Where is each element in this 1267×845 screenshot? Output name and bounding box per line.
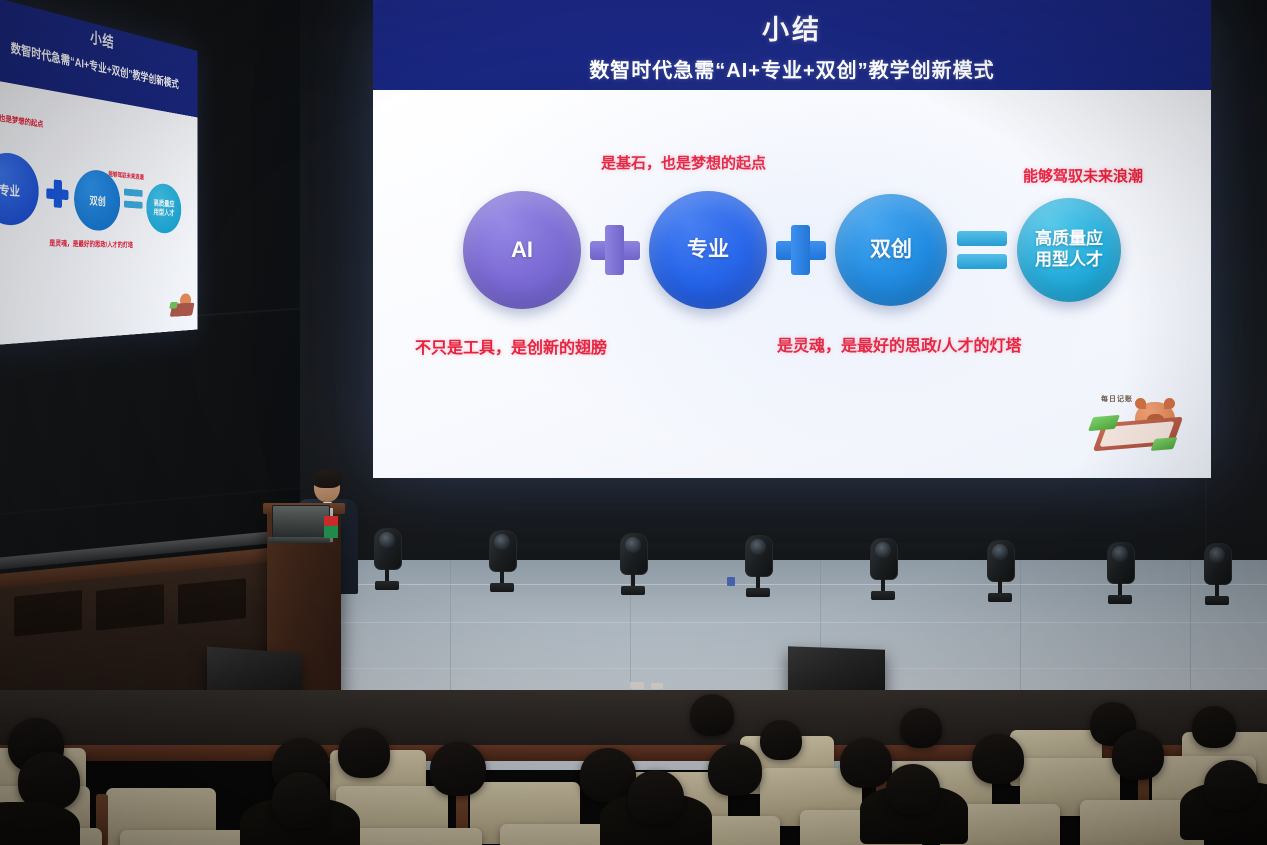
floor-prop bbox=[630, 682, 644, 689]
stage-light bbox=[372, 528, 402, 592]
secondary-projection-screen: 小结 数智时代急需“AI+专业+双创”教学创新模式 是基石，也是梦想的起点 能够… bbox=[0, 0, 198, 346]
floor-prop bbox=[651, 683, 663, 689]
piggy-ear-icon bbox=[1135, 398, 1146, 409]
audience-head bbox=[272, 772, 330, 828]
stage-light bbox=[1105, 542, 1135, 606]
piggy-bank-calculator-illustration: 每日记账 bbox=[1091, 394, 1187, 466]
operator-equals bbox=[956, 227, 1008, 273]
left-operator-plus bbox=[46, 179, 68, 208]
stage-light bbox=[1202, 543, 1232, 607]
laptop-base bbox=[268, 537, 332, 543]
stage-light bbox=[868, 538, 898, 602]
audience-head bbox=[628, 770, 684, 824]
node-major: 专业 bbox=[649, 191, 767, 309]
node-talent: 高质量应用型人才 bbox=[1017, 198, 1121, 302]
laptop-screen bbox=[272, 505, 330, 541]
node-ai-label: AI bbox=[463, 191, 581, 309]
audience-head bbox=[690, 694, 734, 736]
slide-body: 是基石，也是梦想的起点 能够驾驭未来浪潮 AI 专业 bbox=[373, 90, 1211, 478]
slide-header: 小结 数智时代急需“AI+专业+双创”教学创新模式 bbox=[373, 0, 1211, 90]
left-node-major: 专业 bbox=[0, 150, 39, 227]
left-slide-body: 是基石，也是梦想的起点 能够驾驭未来浪潮 专业 双创 高质量应用型人才 是灵魂，… bbox=[0, 78, 198, 346]
audience-head bbox=[840, 738, 892, 788]
main-projection-screen: 小结 数智时代急需“AI+专业+双创”教学创新模式 是基石，也是梦想的起点 能够… bbox=[373, 0, 1211, 478]
caption-innovation-below: 是灵魂，是最好的思政/人才的灯塔 bbox=[777, 332, 1021, 356]
audience-head bbox=[972, 734, 1024, 784]
audience-head bbox=[760, 720, 802, 760]
caption-ai-below: 不只是工具，是创新的翅膀 bbox=[415, 334, 607, 358]
stage-light bbox=[985, 540, 1015, 604]
audience-head bbox=[886, 764, 940, 814]
audience-head bbox=[338, 728, 390, 778]
money-icon bbox=[1150, 437, 1177, 451]
left-node-talent: 高质量应用型人才 bbox=[146, 182, 181, 234]
node-major-label: 专业 bbox=[649, 191, 767, 309]
piggy-caption: 每日记账 bbox=[1101, 394, 1133, 404]
name-flag bbox=[324, 516, 338, 538]
piggy-ear-icon bbox=[1164, 398, 1175, 409]
floor-prop bbox=[727, 577, 735, 586]
audience-head bbox=[1192, 706, 1236, 748]
left-caption-above-left: 是基石，也是梦想的起点 bbox=[0, 108, 43, 129]
node-talent-label: 高质量应用型人才 bbox=[1017, 198, 1121, 302]
audience-head bbox=[900, 708, 942, 748]
node-innovation: 双创 bbox=[835, 194, 947, 306]
presenter-hair bbox=[312, 469, 342, 488]
operator-plus-1 bbox=[588, 223, 642, 277]
left-caption-below: 是灵魂，是最好的思政/人才的灯塔 bbox=[49, 238, 133, 250]
left-operator-equals bbox=[124, 188, 143, 212]
slide-title: 小结 bbox=[373, 8, 1211, 47]
stage-light bbox=[618, 533, 648, 597]
operator-plus-2 bbox=[774, 223, 828, 277]
auditorium-photo: 小结 数智时代急需“AI+专业+双创”教学创新模式 是基石，也是梦想的起点 能够… bbox=[0, 0, 1267, 845]
audience-head bbox=[1112, 730, 1164, 780]
node-innovation-label: 双创 bbox=[835, 194, 947, 306]
audience-head bbox=[430, 742, 486, 796]
audience-head bbox=[708, 744, 762, 796]
concept-equation-diagram: AI 专业 双创 bbox=[373, 150, 1211, 350]
stage-light bbox=[743, 535, 773, 599]
stage-light bbox=[487, 530, 517, 594]
left-piggy-icon bbox=[170, 292, 196, 321]
audience-seating bbox=[0, 690, 1267, 845]
slide-subtitle: 数智时代急需“AI+专业+双创”教学创新模式 bbox=[373, 54, 1211, 83]
node-ai: AI bbox=[463, 191, 581, 309]
audience-head bbox=[1204, 760, 1258, 810]
